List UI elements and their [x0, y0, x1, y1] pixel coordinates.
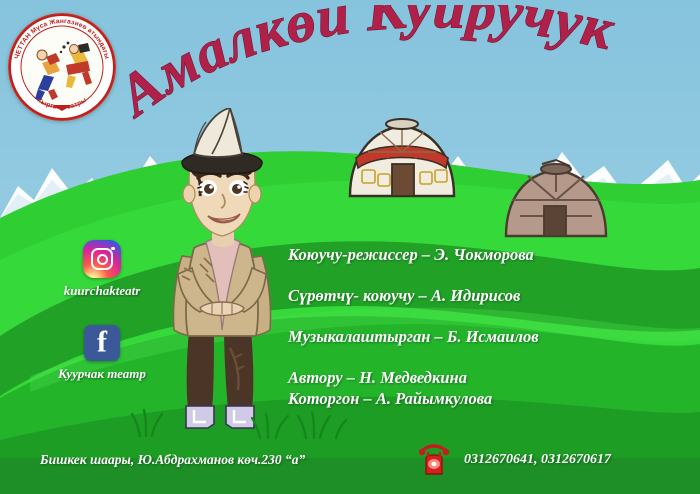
- theatre-logo: ЧЕТТАН Мүса Жангазиев атындагы Кыргыз те…: [8, 13, 116, 121]
- footer-contact: Бишкек шаары, Ю.Абдрахманов көч.230 “а” …: [0, 446, 700, 480]
- credit-director: Коюучу-режиссер – Э. Чокморова: [288, 246, 688, 264]
- social-instagram[interactable]: kuurchakteatr: [28, 240, 176, 299]
- theatre-address: Бишкек шаары, Ю.Абдрахманов көч.230 “а”: [40, 452, 305, 468]
- grass-tuft-right: [250, 406, 320, 440]
- poster-root: ЧЕТТАН Мүса Жангазиев атындагы Кыргыз те…: [0, 0, 700, 494]
- logo-ring-text: ЧЕТТАН Мүса Жангазиев атындагы Кыргыз те…: [8, 13, 116, 121]
- social-facebook[interactable]: f Куурчак театр: [28, 325, 176, 382]
- social-links: kuurchakteatr f Куурчак театр: [28, 240, 176, 408]
- instagram-icon[interactable]: [83, 240, 121, 278]
- credits-list: Коюучу-режиссер – Э. Чокморова Сүрөтчү- …: [288, 246, 688, 410]
- credit-author: Автору – Н. Медведкина: [288, 369, 688, 387]
- telephone-icon: [414, 440, 454, 480]
- facebook-icon[interactable]: f: [84, 325, 120, 361]
- yurt-brown: [498, 158, 614, 242]
- credit-designer: Сүрөтчү- коюучу – А. Идирисов: [288, 287, 688, 305]
- instagram-handle: kuurchakteatr: [28, 283, 176, 299]
- theatre-phone-numbers: 0312670641, 0312670617: [464, 452, 611, 468]
- credit-composer: Музыкалаштырган – Б. Исмаилов: [288, 328, 688, 346]
- facebook-handle: Куурчак театр: [28, 366, 176, 382]
- credit-translator: Которгон – А. Райымкулова: [288, 390, 688, 408]
